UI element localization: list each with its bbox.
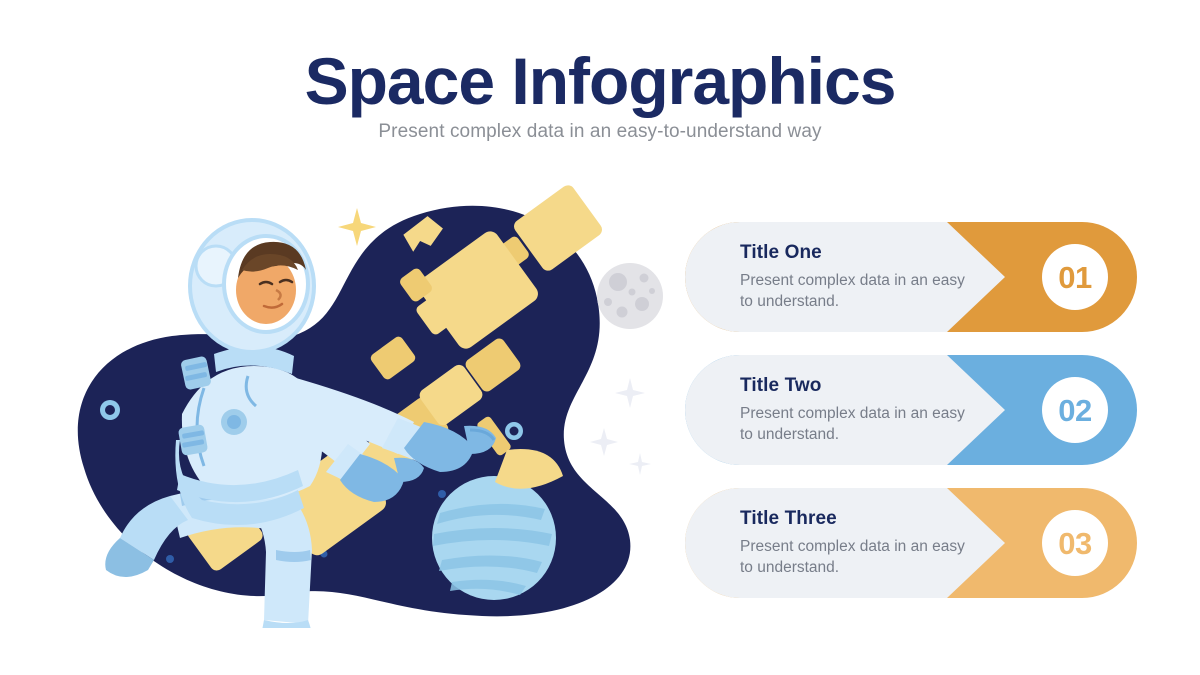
card-description: Present complex data in an easy to under… <box>740 403 975 446</box>
infographic-card-list: Title One Present complex data in an eas… <box>685 222 1137 598</box>
card-text-block: Title Three Present complex data in an e… <box>740 508 975 579</box>
page-subtitle: Present complex data in an easy-to-under… <box>0 121 1200 143</box>
slide-root: Space Infographics Present complex data … <box>0 0 1200 675</box>
card-number-badge: 03 <box>1042 510 1108 576</box>
card-number: 03 <box>1058 528 1091 559</box>
card-text-block: Title Two Present complex data in an eas… <box>740 375 975 446</box>
astronaut-space-illustration <box>52 178 692 628</box>
card-title: Title Three <box>740 508 975 531</box>
card-description: Present complex data in an easy to under… <box>740 536 975 579</box>
moon-illustration <box>597 263 663 329</box>
card-title: Title One <box>740 242 975 265</box>
infographic-card[interactable]: Title One Present complex data in an eas… <box>685 222 1137 332</box>
card-number: 02 <box>1058 395 1091 426</box>
helmet <box>190 220 314 352</box>
card-number-badge: 01 <box>1042 244 1108 310</box>
header: Space Infographics Present complex data … <box>0 48 1200 143</box>
star-decorations-faint <box>590 378 651 475</box>
card-title: Title Two <box>740 375 975 398</box>
card-number-badge: 02 <box>1042 377 1108 443</box>
card-text-block: Title One Present complex data in an eas… <box>740 242 975 313</box>
infographic-card[interactable]: Title Two Present complex data in an eas… <box>685 355 1137 465</box>
blue-planet-illustration <box>432 476 556 600</box>
infographic-card[interactable]: Title Three Present complex data in an e… <box>685 488 1137 598</box>
card-number: 01 <box>1058 262 1091 293</box>
page-title: Space Infographics <box>0 48 1200 115</box>
card-description: Present complex data in an easy to under… <box>740 270 975 313</box>
